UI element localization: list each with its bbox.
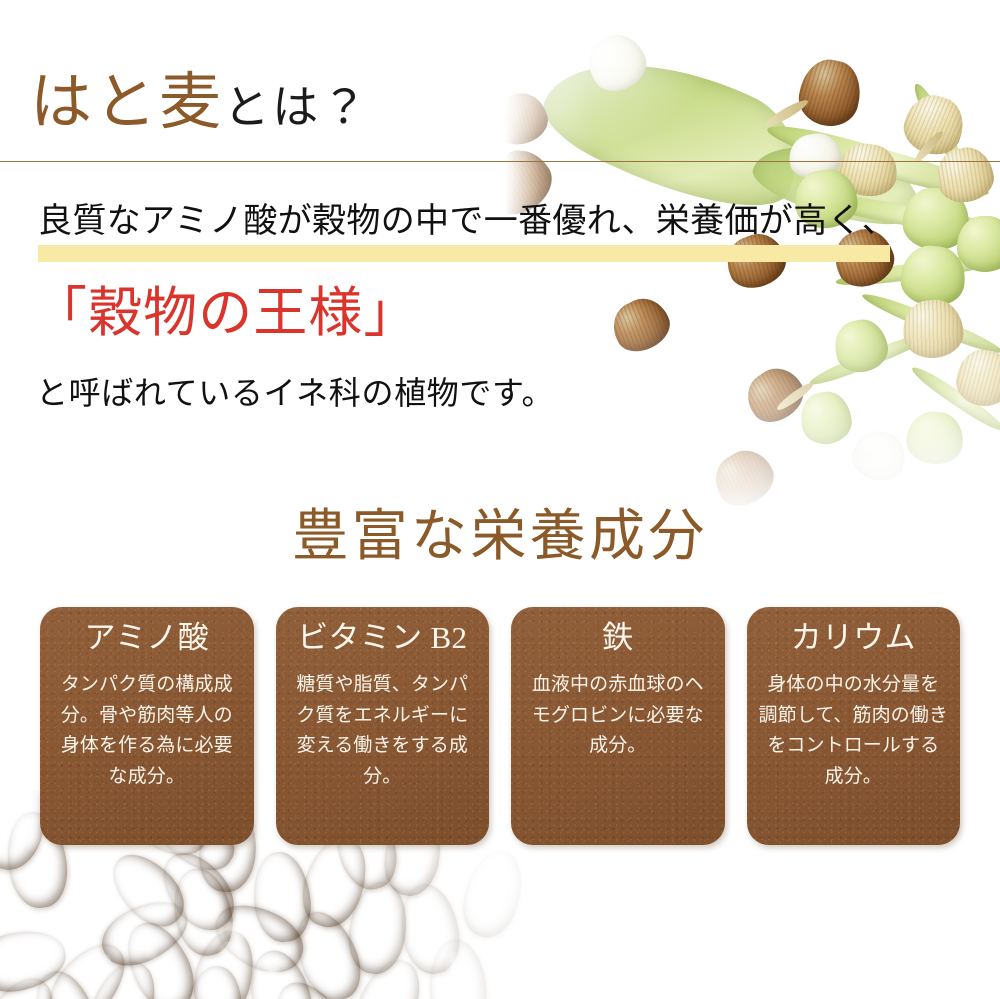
nutrient-card-title: 鉄: [602, 619, 633, 658]
plant-seed: [900, 297, 966, 361]
page-title: はと麦とは？: [30, 72, 370, 134]
barley-grain: [455, 844, 531, 943]
plant-seed: [836, 140, 901, 200]
lead-text: 良質なアミノ酸が穀物の中で一番優れ、栄養価が高く、: [38, 205, 896, 239]
king-of-grains-text: 「穀物の王様」: [33, 286, 419, 340]
infographic-page: はと麦とは？ 良質なアミノ酸が穀物の中で一番優れ、栄養価が高く、 「穀物の王様」…: [0, 0, 1000, 999]
barley-grain: [37, 931, 139, 999]
barley-grain: [241, 944, 320, 999]
barley-grain: [93, 889, 198, 977]
plant-seed: [848, 426, 910, 485]
barley-grain: [79, 952, 167, 999]
plant-seed: [953, 346, 1000, 411]
nutrient-card-title: アミノ酸: [84, 619, 209, 658]
nutrient-card-amino-acid: アミノ酸 タンパク質の構成成分。骨や筋肉等人の身体を作る為に必要な成分。: [40, 607, 254, 845]
nutrient-card-body: タンパク質の構成成分。骨や筋肉等人の身体を作る為に必要な成分。: [52, 670, 242, 793]
barley-grain: [100, 842, 196, 939]
barley-grain: [344, 879, 412, 978]
title-divider: [0, 161, 1000, 162]
nutrient-card-potassium: カリウム 身体の中の水分量を調節して、筋肉の働きをコントロールする成分。: [747, 607, 961, 845]
nutrient-card-title: カリウム: [791, 619, 916, 658]
barley-grain: [25, 964, 107, 999]
barley-grain: [427, 938, 489, 999]
nutrient-card-body: 血液中の赤血球のヘモグロビンに必要な成分。: [523, 670, 713, 762]
barley-grain: [344, 951, 433, 999]
plant-stem: [908, 362, 1000, 435]
plant-stem: [860, 288, 1000, 358]
plant-seed: [957, 216, 1000, 272]
nutrient-card-body: 身体の中の水分量を調節して、筋肉の働きをコントロールする成分。: [759, 670, 949, 793]
plant-stem: [807, 328, 933, 390]
plant-seed: [580, 26, 655, 100]
barley-grain: [181, 963, 246, 999]
plant-seed-tip: [775, 380, 816, 413]
plant-seed: [829, 314, 892, 377]
plant-seed: [738, 359, 812, 432]
plant-seed: [605, 290, 677, 359]
plant-seed: [901, 186, 971, 252]
plant-seed: [897, 88, 970, 161]
barley-grain: [249, 849, 314, 944]
barley-grain: [0, 966, 66, 999]
barley-grain: [205, 892, 313, 984]
nutrient-card-title: ビタミン B2: [297, 619, 467, 658]
plant-seed-tip: [764, 97, 811, 130]
nutrition-heading: 豊富な栄養成分: [0, 509, 1000, 565]
plant-seed: [505, 87, 553, 151]
barley-grain: [166, 863, 239, 961]
plant-seed: [797, 388, 855, 448]
barley-grain: [395, 880, 466, 978]
barley-grain: [149, 840, 246, 942]
page-title-brand: はと麦: [30, 69, 223, 137]
plant-stem: [909, 80, 968, 171]
nutrient-card-iron: 鉄 血液中の赤血球のヘモグロビンに必要な成分。: [511, 607, 725, 845]
barley-grain: [285, 903, 371, 999]
barley-grain: [115, 912, 206, 999]
nutrient-card-body: 糖質や脂質、タンパク質をエネルギーに変える働きをする成分。: [288, 670, 478, 793]
plant-seed: [706, 441, 782, 515]
lead-highlight-band: [38, 245, 890, 262]
plant-seed: [898, 243, 968, 309]
page-title-rest: とは？: [223, 82, 369, 133]
plant-seed: [794, 54, 866, 131]
nutrient-card-list: アミノ酸 タンパク質の構成成分。骨や筋肉等人の身体を作る為に必要な成分。 ビタミ…: [40, 607, 960, 845]
closing-text: と呼ばれているイネ科の植物です。: [36, 377, 554, 409]
plant-seed: [931, 142, 998, 208]
barley-grain: [0, 923, 71, 998]
plant-seed: [786, 130, 845, 182]
plant-seed: [904, 409, 965, 467]
nutrient-card-vitamin-b2: ビタミン B2 糖質や脂質、タンパク質をエネルギーに変える働きをする成分。: [276, 607, 490, 845]
barley-grain: [293, 829, 377, 934]
barley-grain: [186, 925, 262, 999]
barley-grain: [264, 970, 361, 999]
plant-seed-tip: [912, 129, 945, 165]
